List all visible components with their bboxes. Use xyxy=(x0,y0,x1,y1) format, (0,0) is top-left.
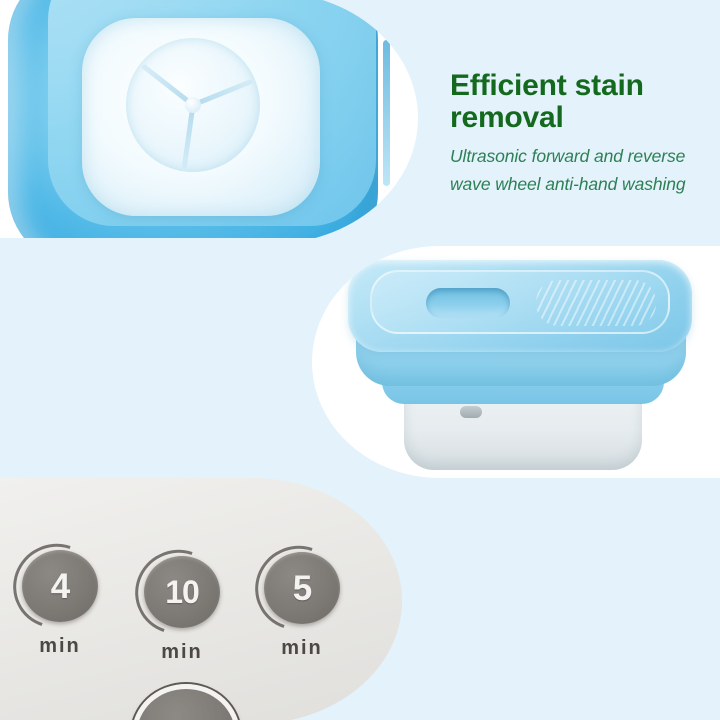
heading-line: Efficient stain xyxy=(450,69,644,102)
feature-section-timing: 4 min 10 min 5 xyxy=(0,478,720,720)
timer-dial: 4 xyxy=(22,550,98,622)
machine-vent xyxy=(460,406,482,418)
timer-button-5-min[interactable]: 5 min xyxy=(264,552,340,660)
infographic-page: Efficient stain removal Ultrasonic forwa… xyxy=(0,0,720,720)
timer-circle: 4 xyxy=(22,550,98,622)
product-photo-folded-machine xyxy=(312,246,720,478)
feature-heading-stain-removal: Efficient stain removal xyxy=(450,70,712,135)
pulsator-wave-wheel-icon xyxy=(126,38,260,172)
body-line: wave wheel anti-hand washing xyxy=(450,170,712,198)
feature-section-stain-removal: Efficient stain removal Ultrasonic forwa… xyxy=(0,0,720,238)
pulsator-blade xyxy=(182,105,196,169)
timer-dial: 5 xyxy=(264,552,340,624)
heading-line: removal xyxy=(450,101,564,134)
timer-value: 10 xyxy=(165,576,199,608)
timer-unit-label: min xyxy=(264,637,340,660)
body-line: Ultrasonic forward and reverse xyxy=(450,142,712,170)
timer-unit-label: min xyxy=(144,641,220,664)
timer-dial: 10 xyxy=(144,556,220,628)
product-photo-open-tub xyxy=(0,0,418,238)
timer-circle: 5 xyxy=(264,552,340,624)
product-photo-control-panel: 4 min 10 min 5 xyxy=(0,478,402,720)
power-button[interactable] xyxy=(132,684,240,720)
timer-value: 5 xyxy=(293,571,311,606)
timer-circle: 10 xyxy=(144,556,220,628)
timer-button-10-min[interactable]: 10 min xyxy=(144,556,220,664)
feature-text-stain-removal: Efficient stain removal Ultrasonic forwa… xyxy=(450,70,712,198)
timer-value: 4 xyxy=(51,569,69,604)
pulsator-hub xyxy=(185,97,201,113)
machine-lid-ridges xyxy=(536,280,656,326)
feature-body-stain-removal: Ultrasonic forward and reverse wave whee… xyxy=(450,142,712,199)
feature-section-foldable: Foldable Travel, easy to put into the su… xyxy=(0,238,720,478)
timer-unit-label: min xyxy=(22,635,98,658)
pulsator-blade xyxy=(192,79,253,108)
tub-hinge xyxy=(383,40,390,186)
panel-corner-backdrop xyxy=(342,478,402,512)
timer-button-4-min[interactable]: 4 min xyxy=(22,550,98,658)
machine-lid-handle xyxy=(426,288,510,318)
